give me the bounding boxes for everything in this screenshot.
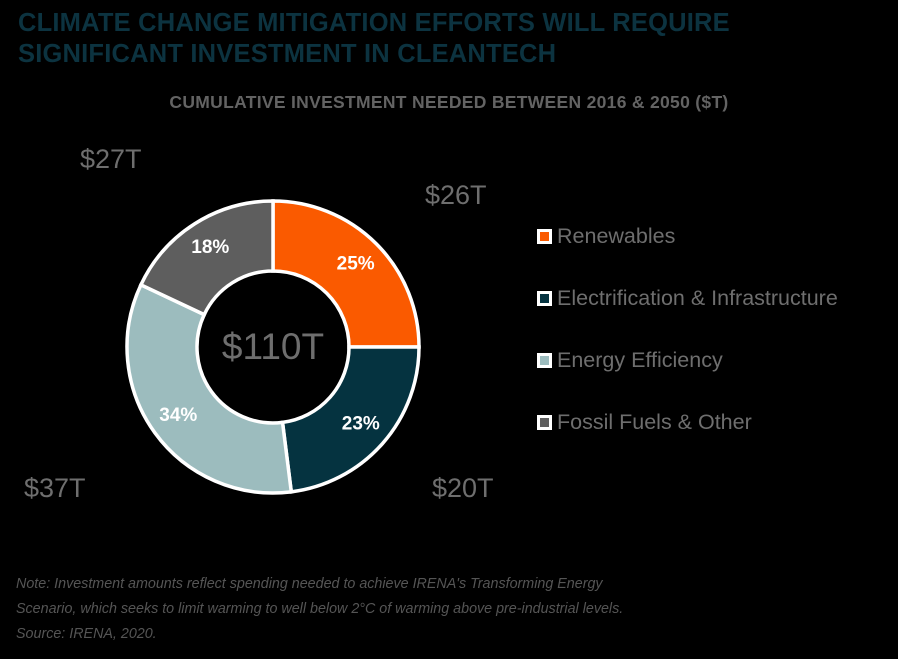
legend-item-electrification-and-infrastructure[interactable]: Electrification & Infrastructure [537, 287, 892, 349]
footnotes: Note: Investment amounts reflect spendin… [16, 572, 886, 647]
footnote-note-line-1: Note: Investment amounts reflect spendin… [16, 572, 886, 597]
footnote-source-line: Source: IRENA, 2020. [16, 622, 886, 647]
legend-label-energy-efficiency: Energy Efficiency [557, 349, 723, 371]
legend-item-fossil-fuels-and-other[interactable]: Fossil Fuels & Other [537, 411, 892, 473]
legend-item-renewables[interactable]: Renewables [537, 225, 892, 287]
chart-subtitle: CUMULATIVE INVESTMENT NEEDED BETWEEN 201… [0, 92, 898, 113]
donut-percent-label-fossil-fuels-and-other: 18% [191, 237, 229, 258]
donut-slice-energy-efficiency[interactable] [127, 285, 291, 493]
page-title: CLIMATE CHANGE MITIGATION EFFORTS WILL R… [18, 8, 888, 70]
donut-value-label-energy-efficiency: $37T [24, 473, 86, 504]
donut-chart: 25% 23% 34% 18% $110T $26T $20T $37T $27… [0, 118, 560, 578]
legend-label-fossil-fuels-and-other: Fossil Fuels & Other [557, 411, 752, 433]
legend-label-renewables: Renewables [557, 225, 675, 247]
donut-value-label-fossil-fuels-and-other: $27T [80, 144, 142, 175]
donut-value-label-renewables: $26T [425, 180, 487, 211]
legend-swatch-icon-fossil-fuels-and-other [537, 415, 552, 430]
legend-swatch-icon-renewables [537, 229, 552, 244]
donut-percent-label-energy-efficiency: 34% [159, 405, 197, 426]
legend-label-electrification-and-infrastructure: Electrification & Infrastructure [557, 287, 838, 309]
legend-item-energy-efficiency[interactable]: Energy Efficiency [537, 349, 892, 411]
slide-canvas: CLIMATE CHANGE MITIGATION EFFORTS WILL R… [0, 0, 898, 659]
chart-legend: Renewables Electrification & Infrastruct… [537, 225, 892, 473]
donut-percent-label-renewables: 25% [337, 253, 375, 274]
donut-center-total-label: $110T [222, 326, 324, 367]
footnote-note-line-2: Scenario, which seeks to limit warming t… [16, 597, 886, 622]
legend-swatch-icon-energy-efficiency [537, 353, 552, 368]
legend-swatch-icon-electrification-and-infrastructure [537, 291, 552, 306]
donut-value-label-electrification-and-infrastructure: $20T [432, 473, 494, 504]
donut-percent-label-electrification-and-infrastructure: 23% [342, 413, 380, 434]
